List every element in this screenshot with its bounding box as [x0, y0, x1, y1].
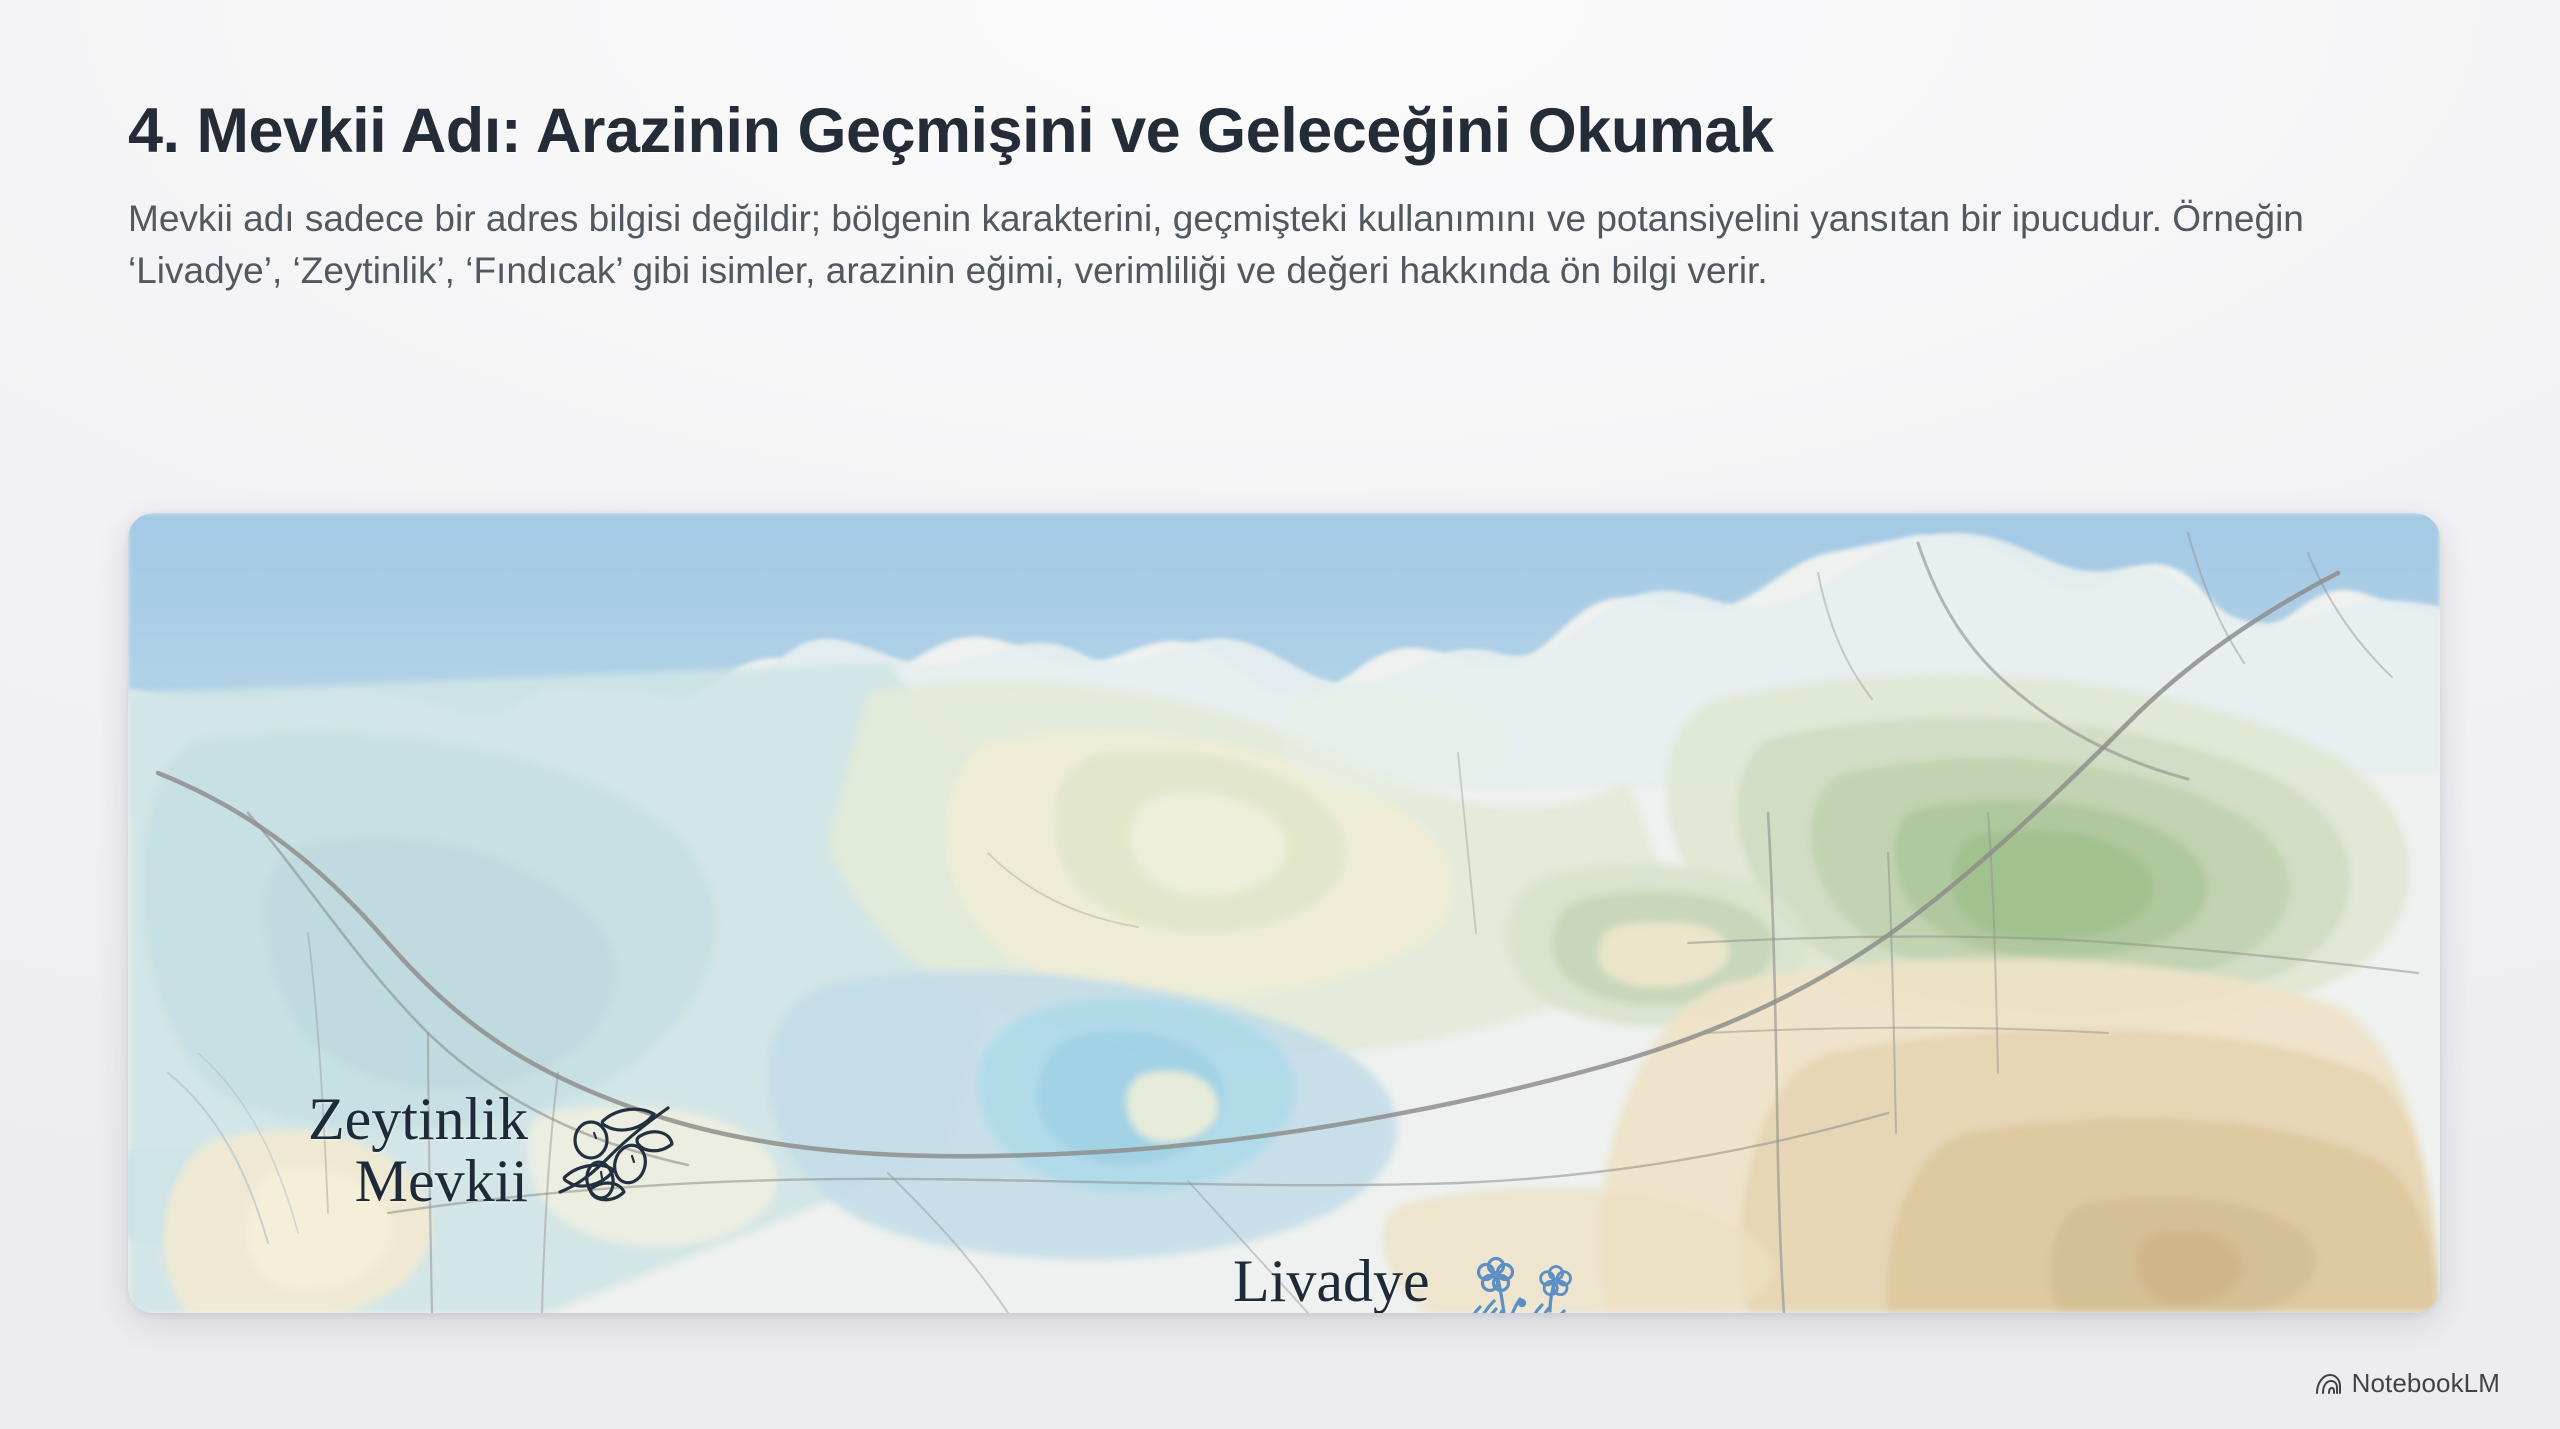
map-label-zeytinlik-line1: Zeytinlik — [308, 1086, 528, 1152]
map-label-zeytinlik-line2: Mevkii — [308, 1151, 528, 1213]
map-label-livadye-line1: Livadye — [1233, 1248, 1430, 1313]
notebooklm-watermark: NotebookLM — [2314, 1368, 2500, 1399]
map-label-zeytinlik[interactable]: Zeytinlik Mevkii — [308, 1089, 674, 1213]
map-card[interactable]: Zeytinlik Mevkii — [128, 513, 2440, 1313]
map-label-livadye-text: Livadye Mevkii — [1233, 1251, 1430, 1313]
olive-branch-icon — [544, 1092, 674, 1210]
page-title: 4. Mevkii Adı: Arazinin Geçmişini ve Gel… — [128, 96, 2458, 167]
header: 4. Mevkii Adı: Arazinin Geçmişini ve Gel… — [128, 96, 2458, 298]
map-label-zeytinlik-text: Zeytinlik Mevkii — [308, 1089, 528, 1213]
notebooklm-watermark-label: NotebookLM — [2352, 1368, 2500, 1399]
notebooklm-logo-icon — [2314, 1371, 2342, 1397]
map-label-livadye[interactable]: Livadye Mevkii — [1233, 1251, 1586, 1313]
page-subtitle: Mevkii adı sadece bir adres bilgisi deği… — [128, 193, 2328, 298]
meadow-flowers-icon — [1446, 1257, 1586, 1313]
